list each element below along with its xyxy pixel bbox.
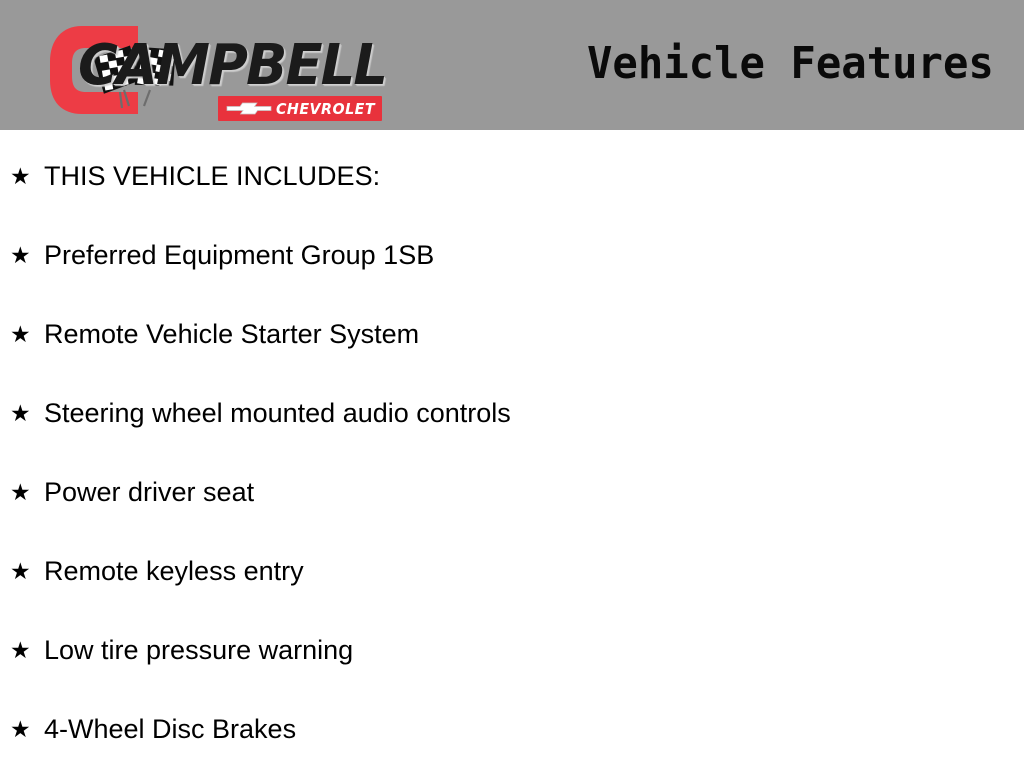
vehicle-features-page: CAMPBELL CHEVROLET Vehicle Features ★THI… — [0, 0, 1024, 768]
chevrolet-banner: CHEVROLET — [218, 96, 382, 121]
feature-label: THIS VEHICLE INCLUDES: — [44, 160, 380, 192]
feature-label: Steering wheel mounted audio controls — [44, 397, 511, 429]
dealer-wordmark: CAMPBELL — [78, 30, 388, 102]
star-bullet-icon: ★ — [10, 716, 34, 742]
star-bullet-icon: ★ — [10, 479, 34, 505]
page-title: Vehicle Features — [587, 38, 994, 90]
feature-label: Power driver seat — [44, 476, 254, 508]
feature-label: 4-Wheel Disc Brakes — [44, 713, 296, 745]
list-item: ★Steering wheel mounted audio controls — [10, 393, 511, 433]
vehicle-features-list: ★THIS VEHICLE INCLUDES:★Preferred Equipm… — [0, 130, 1024, 768]
star-bullet-icon: ★ — [10, 637, 34, 663]
star-bullet-icon: ★ — [10, 163, 34, 189]
star-bullet-icon: ★ — [10, 242, 34, 268]
chevrolet-bowtie-icon — [226, 101, 272, 116]
dealer-logo: CAMPBELL CHEVROLET — [36, 8, 396, 126]
list-item: ★Preferred Equipment Group 1SB — [10, 235, 434, 275]
feature-label: Preferred Equipment Group 1SB — [44, 239, 434, 271]
feature-label: Remote keyless entry — [44, 555, 304, 587]
list-item: ★Low tire pressure warning — [10, 630, 353, 670]
list-item: ★THIS VEHICLE INCLUDES: — [10, 156, 380, 196]
star-bullet-icon: ★ — [10, 558, 34, 584]
feature-label: Low tire pressure warning — [44, 634, 353, 666]
chevrolet-brand-label: CHEVROLET — [276, 96, 375, 121]
list-item: ★Power driver seat — [10, 472, 254, 512]
page-header: CAMPBELL CHEVROLET Vehicle Features — [0, 0, 1024, 130]
list-item: ★4-Wheel Disc Brakes — [10, 709, 296, 749]
list-item: ★Remote keyless entry — [10, 551, 304, 591]
list-item: ★Remote Vehicle Starter System — [10, 314, 419, 354]
star-bullet-icon: ★ — [10, 400, 34, 426]
star-bullet-icon: ★ — [10, 321, 34, 347]
feature-label: Remote Vehicle Starter System — [44, 318, 419, 350]
